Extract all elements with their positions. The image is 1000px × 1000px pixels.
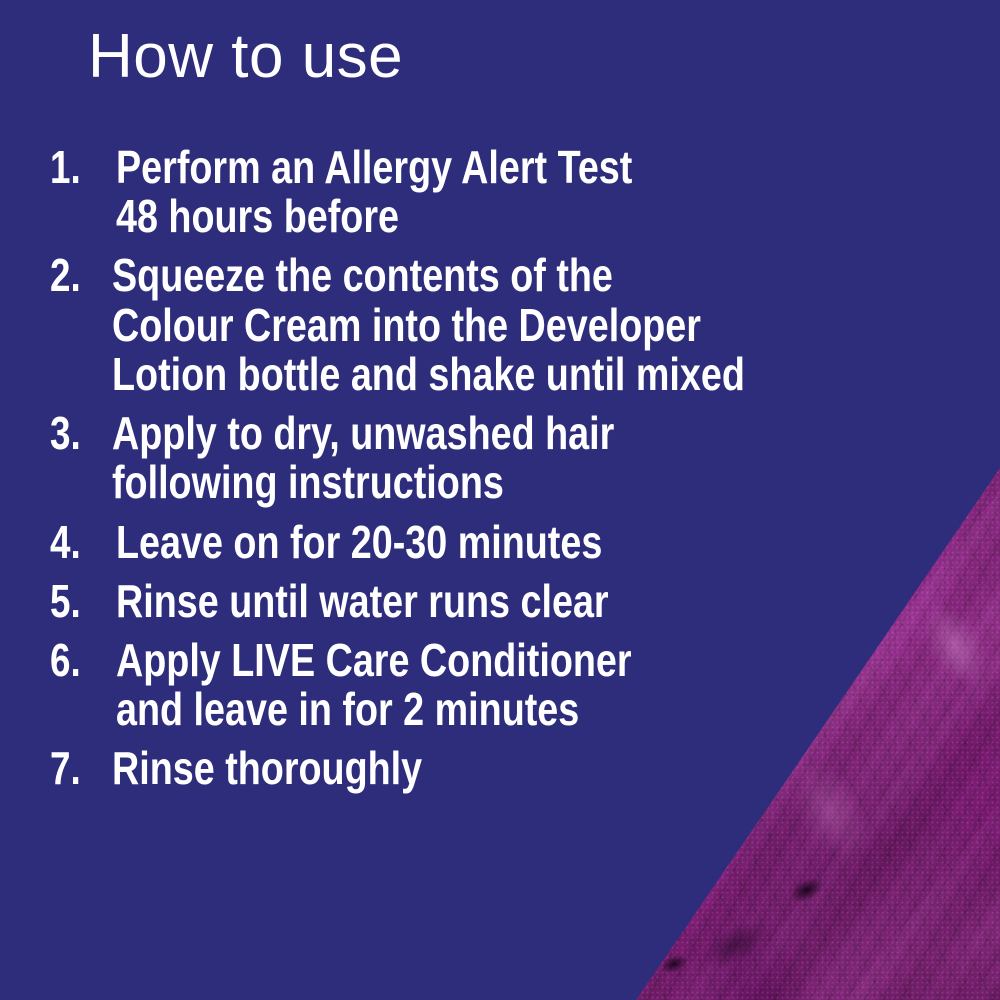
step-text-line: Rinse thoroughly — [112, 744, 799, 793]
step-text: Rinse thoroughly — [112, 744, 799, 793]
hair-shadow-pocket — [696, 913, 774, 977]
step-text-line: following instructions — [112, 458, 799, 507]
step-text: Leave on for 20-30 minutes — [116, 518, 800, 567]
step-number: 1. — [50, 143, 103, 192]
step-number: 3. — [50, 409, 100, 458]
step-text: Perform an Allergy Alert Test 48 hours b… — [116, 143, 800, 241]
step-number: 6. — [50, 636, 103, 685]
list-item: 3. Apply to dry, unwashed hair following… — [50, 409, 950, 507]
list-item: 2. Squeeze the contents of the Colour Cr… — [50, 251, 950, 399]
step-text-line: Apply LIVE Care Conditioner — [116, 636, 800, 685]
step-number: 7. — [50, 744, 100, 793]
step-text-line: Squeeze the contents of the — [112, 251, 799, 300]
step-text-line: Rinse until water runs clear — [116, 577, 800, 626]
step-text-line: Colour Cream into the Developer — [112, 301, 799, 350]
how-to-use-panel: How to use 1. Perform an Allergy Alert T… — [0, 0, 1000, 1000]
step-text-line: and leave in for 2 minutes — [116, 685, 800, 734]
list-item: 7. Rinse thoroughly — [50, 744, 950, 793]
step-text-line: Apply to dry, unwashed hair — [112, 409, 799, 458]
hair-shadow-pocket — [787, 873, 826, 907]
hair-shadow-pocket — [658, 951, 690, 977]
list-item: 6. Apply LIVE Care Conditioner and leave… — [50, 636, 950, 734]
list-item: 1. Perform an Allergy Alert Test 48 hour… — [50, 143, 950, 241]
step-text: Rinse until water runs clear — [116, 577, 800, 626]
step-text-line: Leave on for 20-30 minutes — [116, 518, 800, 567]
step-number: 5. — [50, 577, 103, 626]
step-number: 2. — [50, 251, 100, 300]
step-number: 4. — [50, 518, 103, 567]
step-text: Apply to dry, unwashed hair following in… — [112, 409, 799, 507]
step-text: Apply LIVE Care Conditioner and leave in… — [116, 636, 800, 734]
instruction-steps-list: 1. Perform an Allergy Alert Test 48 hour… — [50, 143, 950, 804]
step-text-line: Lotion bottle and shake until mixed — [112, 350, 799, 399]
step-text-line: 48 hours before — [116, 192, 800, 241]
page-title: How to use — [88, 24, 403, 89]
step-text-line: Perform an Allergy Alert Test — [116, 143, 800, 192]
step-text: Squeeze the contents of the Colour Cream… — [112, 251, 799, 399]
list-item: 5. Rinse until water runs clear — [50, 577, 950, 626]
list-item: 4. Leave on for 20-30 minutes — [50, 518, 950, 567]
